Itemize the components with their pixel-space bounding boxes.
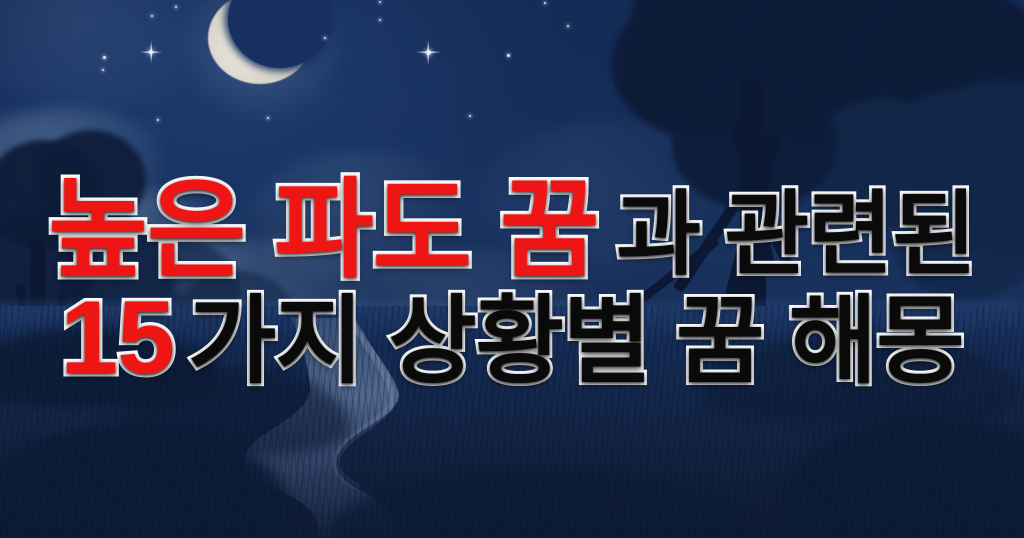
star (544, 2, 546, 4)
star (103, 56, 106, 59)
thumbnail-canvas: 높은 파도 꿈 과 관련된 15 가지 상황별 꿈 해몽 (0, 0, 1024, 538)
star (13, 204, 15, 206)
winding-path (0, 306, 1024, 538)
crescent-moon (208, 0, 312, 84)
star (267, 117, 269, 119)
ground-field (0, 306, 1024, 538)
star (102, 69, 104, 71)
star (379, 19, 381, 21)
horizon-haze (0, 302, 1024, 342)
star (89, 221, 91, 223)
star (507, 54, 510, 57)
star (426, 50, 431, 55)
star (469, 115, 471, 117)
